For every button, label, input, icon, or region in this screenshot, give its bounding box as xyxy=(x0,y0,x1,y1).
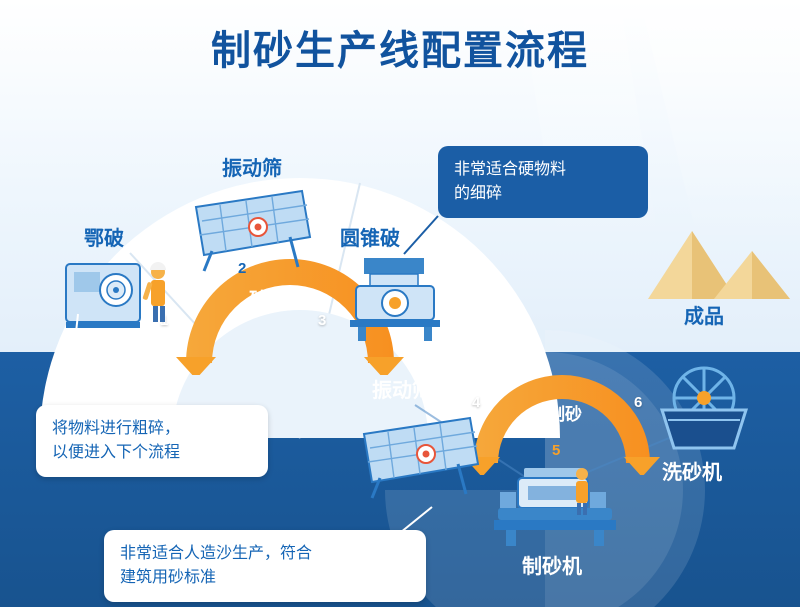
callout-coarse-crush-tail xyxy=(56,310,136,410)
sand-washer-icon xyxy=(648,358,760,454)
sand-pile-icon xyxy=(648,225,794,311)
diagram-canvas: 制砂生产线配置流程 xyxy=(0,0,800,607)
label-cone-crusher: 圆锥破 xyxy=(340,222,400,251)
vibrating-screen-icon-2 xyxy=(358,412,488,504)
cone-crusher-icon xyxy=(340,252,450,344)
label-vibrating-screen-bottom: 振动筛 xyxy=(372,374,432,403)
callout-hard-material: 非常适合硬物料 的细碎 xyxy=(438,146,648,218)
vibrating-screen-icon xyxy=(190,185,320,277)
callout-hard-material-tail xyxy=(400,212,440,258)
sand-maker-icon xyxy=(490,462,620,550)
step-number-4: 4 xyxy=(472,394,480,411)
label-product: 成品 xyxy=(684,300,724,329)
sand-stage-label: 制砂 xyxy=(505,400,625,425)
label-sand-maker: 制砂机 xyxy=(522,550,582,579)
step-number-5: 5 xyxy=(552,442,560,459)
label-jaw-crusher: 鄂破 xyxy=(84,222,124,251)
step-number-3: 3 xyxy=(318,312,326,329)
step-number-6: 6 xyxy=(634,394,642,411)
page-title: 制砂生产线配置流程 xyxy=(0,18,800,76)
label-vibrating-screen-top: 振动筛 xyxy=(222,152,282,181)
label-sand-washer: 洗砂机 xyxy=(662,456,722,485)
callout-artificial-sand: 非常适合人造沙生产，符合 建筑用砂标准 xyxy=(104,530,426,602)
callout-coarse-crush: 将物料进行粗碎， 以便进入下个流程 xyxy=(36,405,268,477)
crush-stage-label: 破碎 xyxy=(208,285,328,312)
